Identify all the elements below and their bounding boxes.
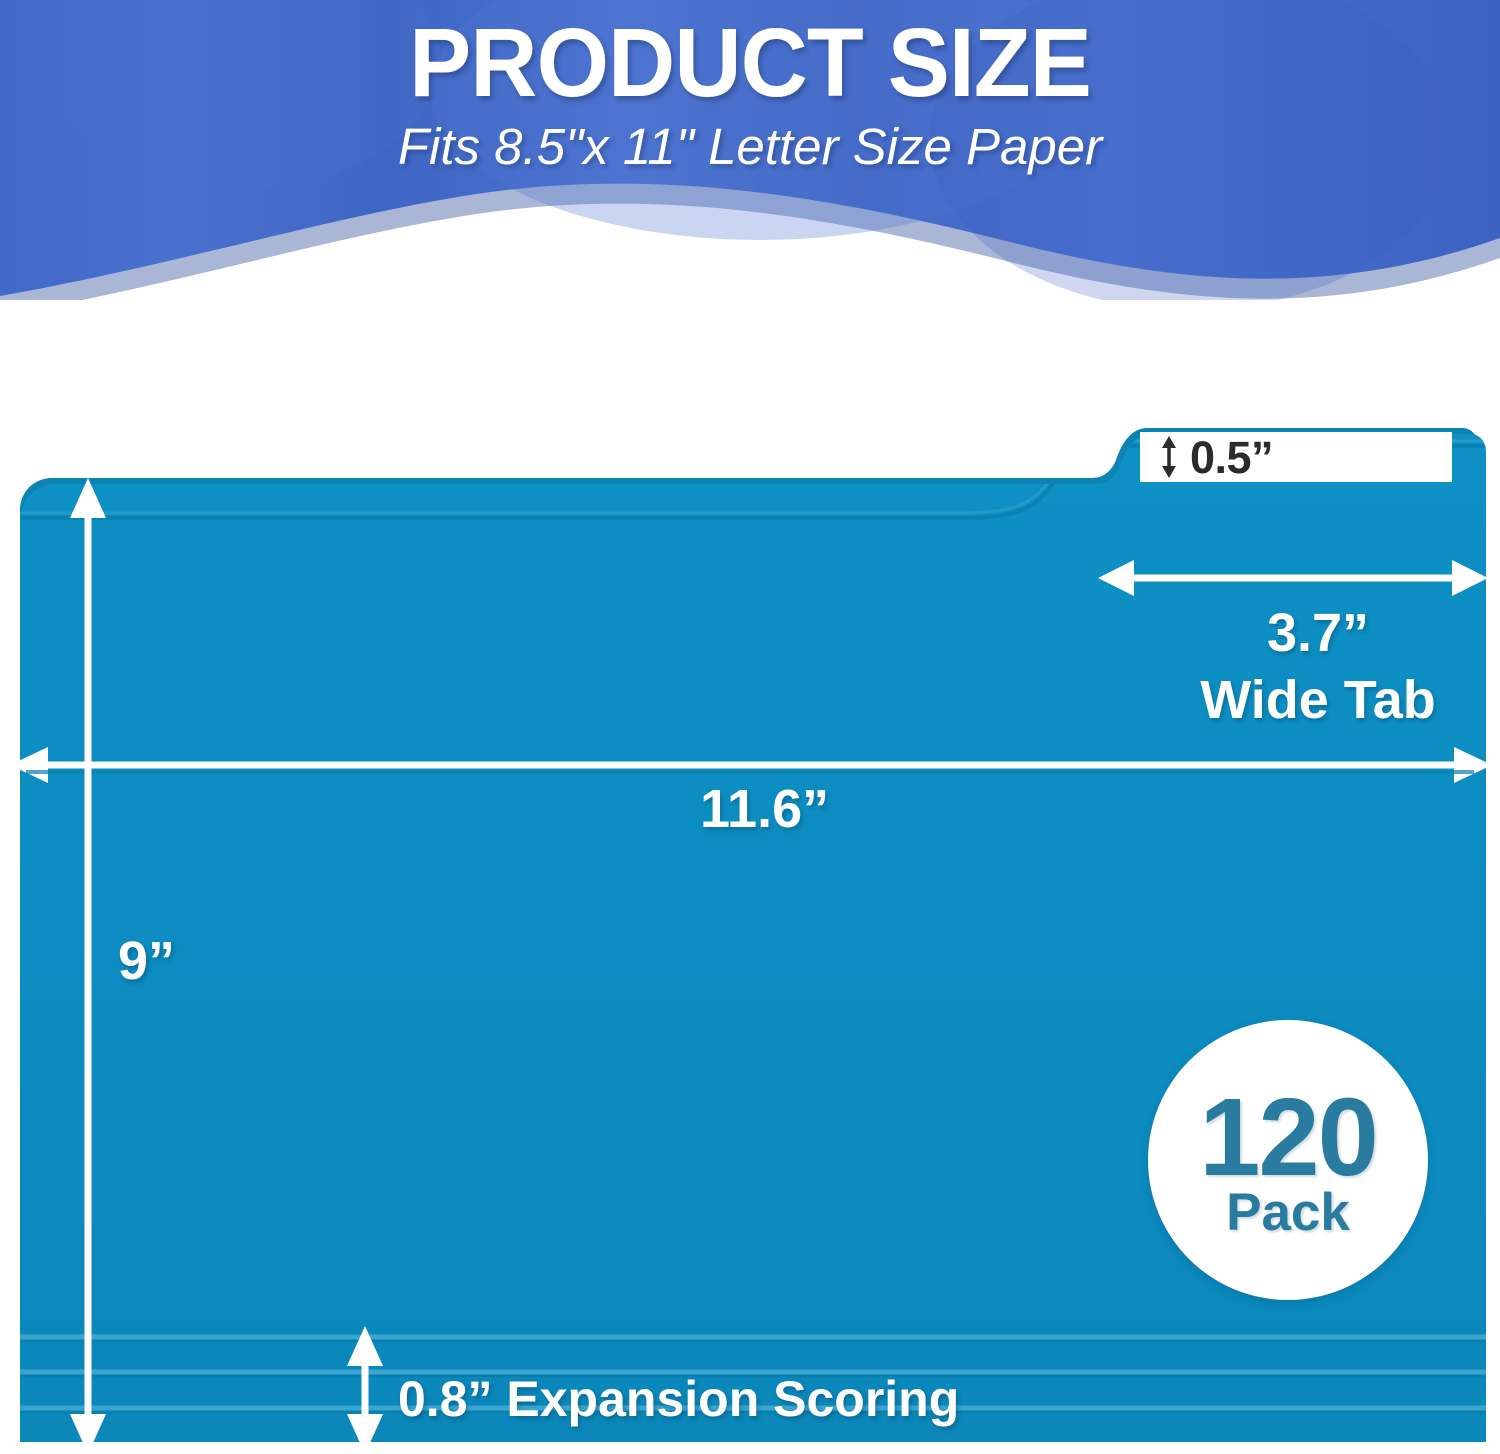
pack-count-value: 120 <box>1199 1087 1377 1188</box>
expansion-scoring-label: 0.8” Expansion Scoring <box>398 1374 959 1424</box>
pack-count-unit: Pack <box>1226 1186 1350 1239</box>
header-banner: PRODUCT SIZE Fits 8.5"x 11" Letter Size … <box>0 0 1500 300</box>
pack-count-badge: 120 Pack <box>1148 1020 1428 1300</box>
tab-width-callout: 3.7” Wide Tab <box>1168 600 1468 734</box>
tab-height-value: 0.5” <box>1190 435 1273 480</box>
tab-width-value: 3.7” <box>1168 600 1468 667</box>
overall-width-label: 11.6” <box>700 782 829 836</box>
page-subtitle: Fits 8.5"x 11" Letter Size Paper <box>0 113 1500 175</box>
tab-width-caption: Wide Tab <box>1168 667 1468 734</box>
header-text-group: PRODUCT SIZE Fits 8.5"x 11" Letter Size … <box>0 0 1500 175</box>
page-title: PRODUCT SIZE <box>30 0 1470 113</box>
vertical-double-arrow-icon <box>1152 432 1186 482</box>
overall-height-label: 9” <box>118 934 175 988</box>
product-size-infographic: PRODUCT SIZE Fits 8.5"x 11" Letter Size … <box>0 0 1500 1454</box>
tab-height-callout: 0.5” <box>1140 432 1452 482</box>
